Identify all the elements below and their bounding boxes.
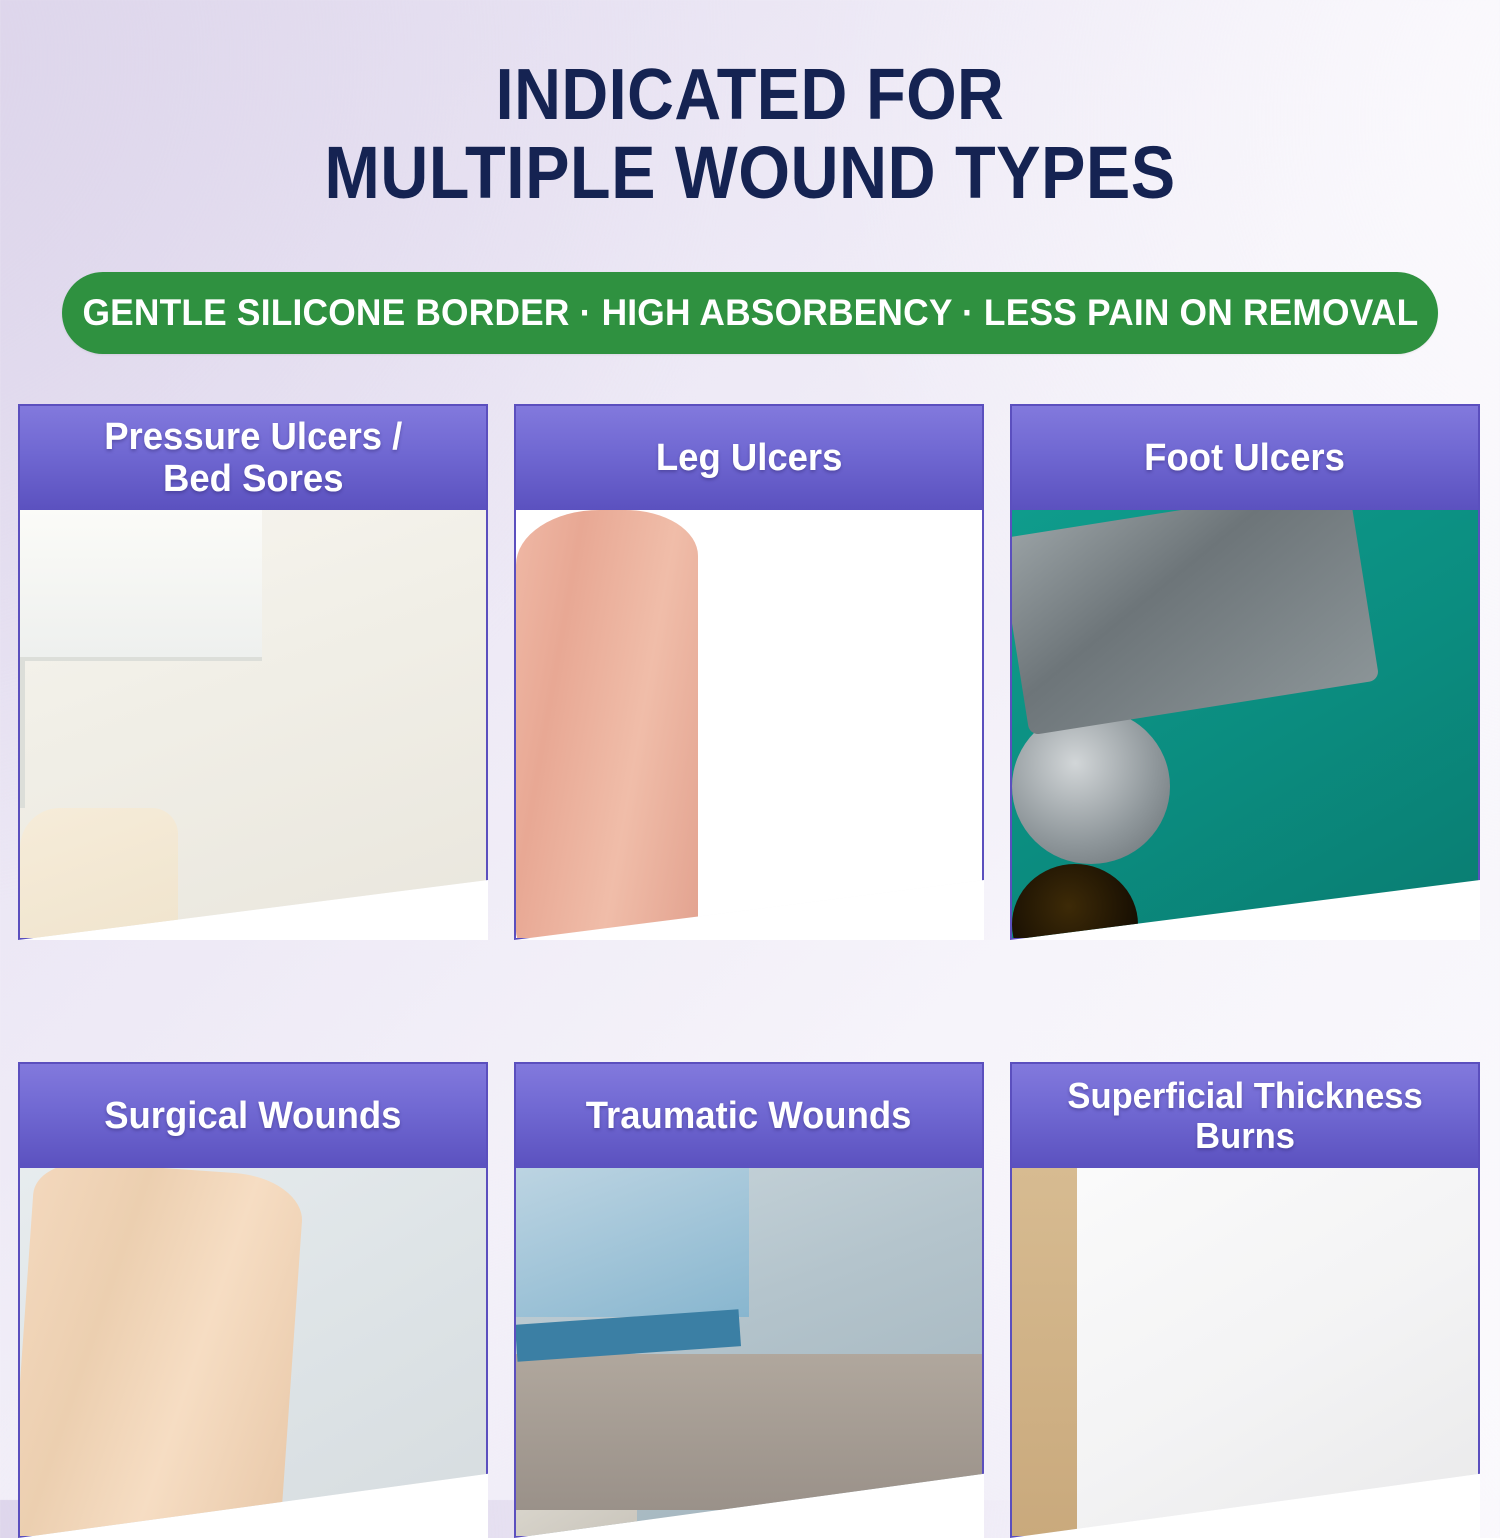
card-label-line-2: Bed Sores [163, 458, 343, 500]
page-title: INDICATED FOR MULTIPLE WOUND TYPES [0, 56, 1500, 212]
wound-type-card-foot-ulcers[interactable]: Foot Ulcers [1010, 404, 1480, 940]
card-label-traumatic-wounds: Traumatic Wounds [575, 1095, 924, 1137]
card-label-line-2: Burns [1195, 1115, 1295, 1156]
card-header-pressure-ulcers: Pressure Ulcers / Bed Sores [20, 406, 486, 510]
page-title-line-2: MULTIPLE WOUND TYPES [75, 134, 1425, 212]
wound-type-card-traumatic-wounds[interactable]: Traumatic Wounds [514, 1062, 984, 1538]
card-label-leg-ulcers: Leg Ulcers [644, 437, 854, 479]
card-header-superficial-burns: Superficial Thickness Burns [1012, 1064, 1478, 1168]
benefit-banner-text: GENTLE SILICONE BORDER · HIGH ABSORBENCY… [82, 292, 1418, 334]
card-photo-surgical-wounds [20, 1168, 486, 1538]
wound-type-row-1: Pressure Ulcers / Bed Sores [18, 404, 1482, 940]
card-photo-foot-ulcers [1012, 510, 1478, 940]
wound-type-card-superficial-burns[interactable]: Superficial Thickness Burns [1010, 1062, 1480, 1538]
wound-type-card-surgical-wounds[interactable]: Surgical Wounds [18, 1062, 488, 1538]
card-header-surgical-wounds: Surgical Wounds [20, 1064, 486, 1168]
card-header-leg-ulcers: Leg Ulcers [516, 406, 982, 510]
card-header-traumatic-wounds: Traumatic Wounds [516, 1064, 982, 1168]
card-label-foot-ulcers: Foot Ulcers [1133, 437, 1357, 479]
card-label-surgical-wounds: Surgical Wounds [93, 1095, 413, 1137]
page-title-line-1: INDICATED FOR [75, 56, 1425, 134]
benefit-banner: GENTLE SILICONE BORDER · HIGH ABSORBENCY… [62, 272, 1438, 354]
wound-type-card-leg-ulcers[interactable]: Leg Ulcers [514, 404, 984, 940]
card-label-line-1: Pressure Ulcers / [104, 416, 402, 458]
card-label-superficial-burns: Superficial Thickness Burns [1056, 1076, 1434, 1156]
card-photo-pressure-ulcers [20, 510, 486, 940]
card-label-pressure-ulcers: Pressure Ulcers / Bed Sores [92, 416, 413, 500]
card-photo-leg-ulcers [516, 510, 982, 940]
wound-type-row-2: Surgical Wounds Traumatic Wounds [18, 1062, 1482, 1538]
card-photo-superficial-burns [1012, 1168, 1478, 1538]
wound-type-card-pressure-ulcers[interactable]: Pressure Ulcers / Bed Sores [18, 404, 488, 940]
card-label-line-1: Superficial Thickness [1067, 1075, 1422, 1116]
wound-type-grid: Pressure Ulcers / Bed Sores [18, 404, 1482, 1538]
card-header-foot-ulcers: Foot Ulcers [1012, 406, 1478, 510]
card-photo-traumatic-wounds [516, 1168, 982, 1538]
